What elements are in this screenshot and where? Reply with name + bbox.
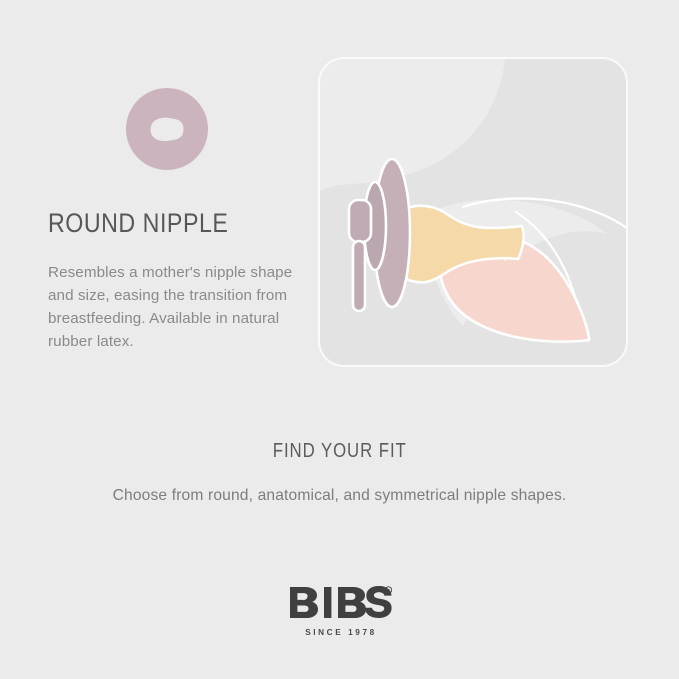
logo-tagline: SINCE 1978 xyxy=(0,628,679,637)
feature-column: ROUND NIPPLE Resembles a mother's nipple… xyxy=(48,88,298,353)
illustration-panel xyxy=(318,57,628,367)
round-nipple-shape-icon xyxy=(126,88,208,170)
find-your-fit-title: FIND YOUR FIT xyxy=(273,440,407,463)
svg-text:R: R xyxy=(386,588,389,593)
brand-logo: R SINCE 1978 xyxy=(0,586,679,637)
pacifier-handle-tab xyxy=(349,200,371,242)
find-your-fit-section: FIND YOUR FIT Choose from round, anatomi… xyxy=(0,440,679,505)
pacifier-in-mouth-diagram xyxy=(320,59,626,365)
product-feature-card: ROUND NIPPLE Resembles a mother's nipple… xyxy=(0,0,679,679)
find-your-fit-subtitle: Choose from round, anatomical, and symme… xyxy=(0,487,679,505)
top-section: ROUND NIPPLE Resembles a mother's nipple… xyxy=(0,0,679,400)
page-title: ROUND NIPPLE xyxy=(48,208,263,239)
pacifier-handle-stem xyxy=(353,241,365,311)
bibs-wordmark-icon: R xyxy=(288,586,392,620)
feature-description: Resembles a mother's nipple shape and si… xyxy=(48,261,293,353)
